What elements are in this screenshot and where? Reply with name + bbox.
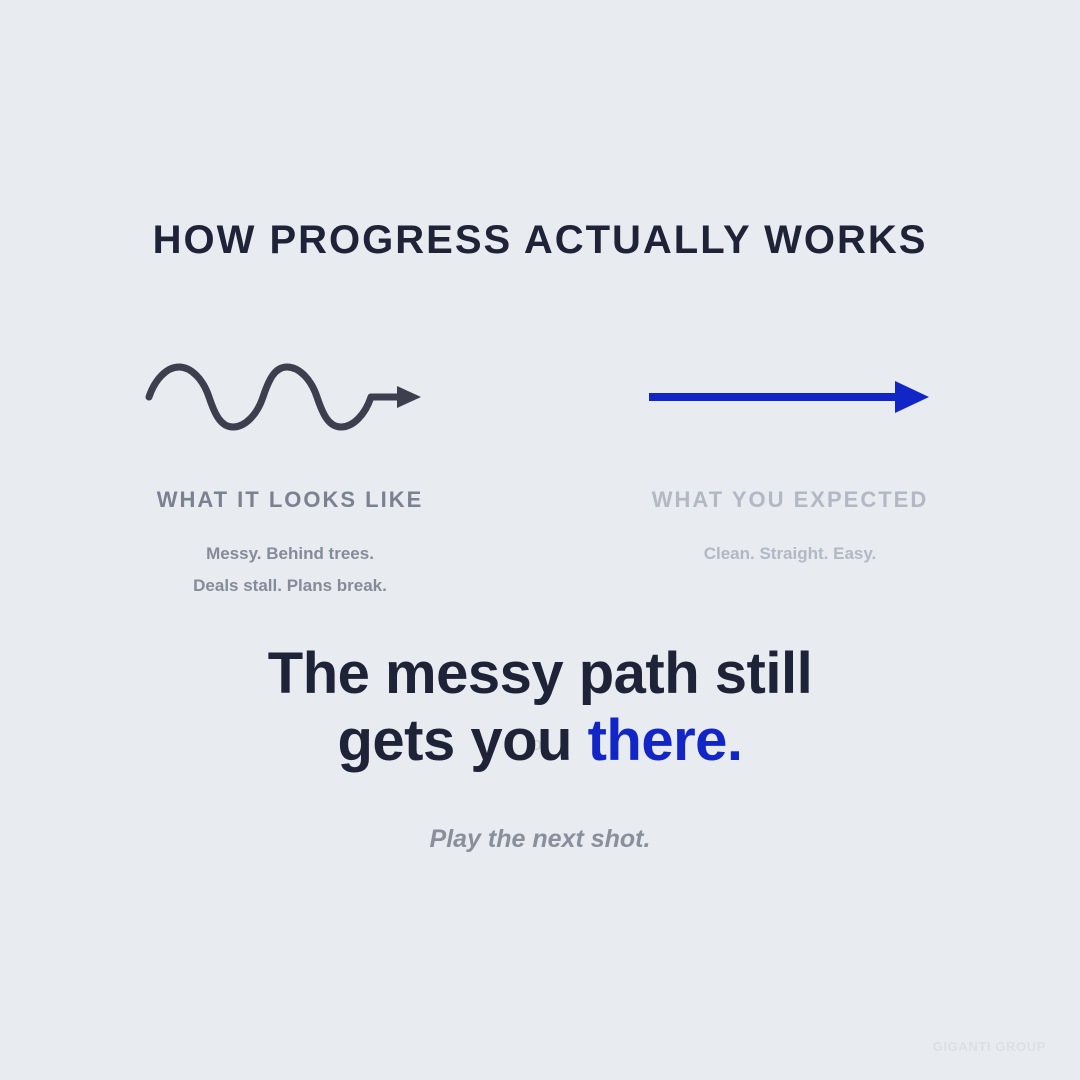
column-sub-right-line-1: Clean. Straight. Easy. <box>580 538 1000 569</box>
brand-watermark: GIGANTI GROUP <box>933 1039 1046 1054</box>
column-label-right: WHAT YOU EXPECTED <box>580 488 1000 512</box>
column-sub-right: Clean. Straight. Easy. <box>580 538 1000 569</box>
wavy-arrow-icon <box>80 352 500 442</box>
column-sub-left-line-2: Deals stall. Plans break. <box>80 570 500 601</box>
headline: The messy path still gets you there. <box>0 640 1080 775</box>
headline-accent-word: there. <box>588 708 743 773</box>
straight-arrow-icon <box>580 352 1000 442</box>
column-sub-left-line-1: Messy. Behind trees. <box>80 538 500 569</box>
headline-line-1: The messy path still <box>0 640 1080 707</box>
page-title: HOW PROGRESS ACTUALLY WORKS <box>0 218 1080 262</box>
comparison-section: WHAT IT LOOKS LIKE Messy. Behind trees. … <box>0 352 1080 602</box>
column-what-you-expected: WHAT YOU EXPECTED Clean. Straight. Easy. <box>580 352 1000 570</box>
headline-line-2-prefix: gets you <box>337 708 587 773</box>
headline-line-2: gets you there. <box>0 707 1080 774</box>
slide-canvas: HOW PROGRESS ACTUALLY WORKS WHAT IT LOOK… <box>0 0 1080 1080</box>
column-what-it-looks-like: WHAT IT LOOKS LIKE Messy. Behind trees. … <box>80 352 500 601</box>
tagline: Play the next shot. <box>0 825 1080 854</box>
column-sub-left: Messy. Behind trees. Deals stall. Plans … <box>80 538 500 601</box>
column-label-left: WHAT IT LOOKS LIKE <box>80 488 500 512</box>
